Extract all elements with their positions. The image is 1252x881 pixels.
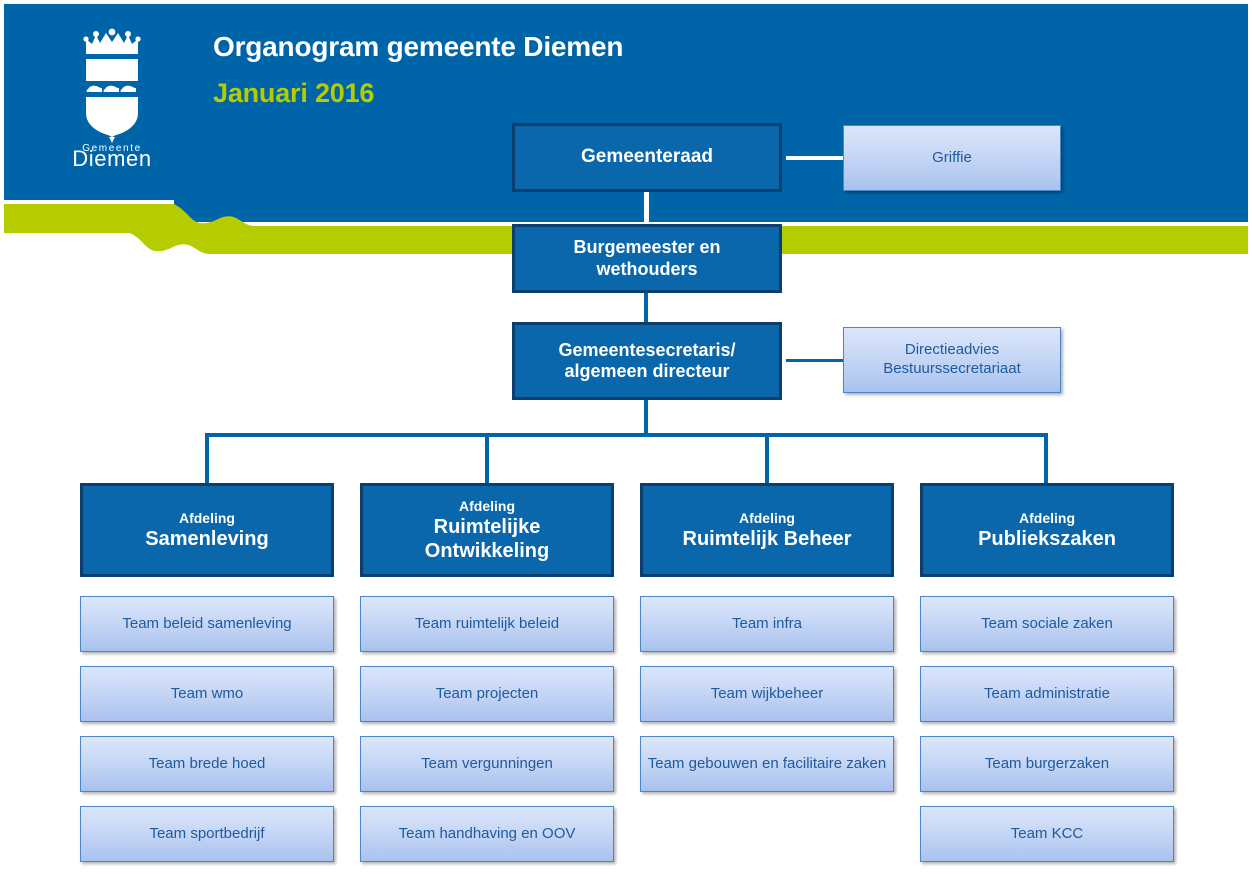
node-gemeentesecretaris-label: Gemeentesecretaris/ algemeen directeur [558,340,735,382]
dept-name: Ruimtelijke Ontwikkeling [425,515,549,564]
dept-header-samenleving[interactable]: Afdeling Samenleving [80,483,334,577]
logo-gemeente-diemen: Gemeente Diemen [66,27,158,167]
team-label: Team sportbedrijf [149,825,264,844]
page-title: Organogram gemeente Diemen [213,31,623,63]
dept-header-ruimtelijk-beheer-content: Afdeling Ruimtelijk Beheer [677,509,858,552]
team-label: Team beleid samenleving [122,615,291,634]
dept-kicker: Afdeling [978,509,1116,527]
connector-department-bus [207,433,1048,437]
dept-header-ruimtelijke-ontwikkeling[interactable]: Afdeling Ruimtelijke Ontwikkeling [360,483,614,577]
node-gemeenteraad-label: Gemeenteraad [581,146,713,168]
node-directieadvies-bestuurssecretariaat[interactable]: Directieadvies Bestuurssecretariaat [843,327,1061,393]
dept-header-samenleving-content: Afdeling Samenleving [139,509,274,552]
team-label: Team handhaving en OOV [399,825,576,844]
team-box[interactable]: Team infra [640,596,894,652]
dept-kicker: Afdeling [145,509,268,527]
team-box[interactable]: Team projecten [360,666,614,722]
node-griffie-label: Griffie [932,149,972,168]
team-box[interactable]: Team handhaving en OOV [360,806,614,862]
team-label: Team KCC [1011,825,1084,844]
node-griffie[interactable]: Griffie [843,125,1061,191]
team-box[interactable]: Team gebouwen en facilitaire zaken [640,736,894,792]
team-label: Team brede hoed [149,755,266,774]
dept-name: Samenleving [145,527,268,551]
dept-header-ruimtelijk-beheer[interactable]: Afdeling Ruimtelijk Beheer [640,483,894,577]
connector-bw-secretaris [644,292,648,322]
team-label: Team infra [732,615,802,634]
team-box[interactable]: Team sociale zaken [920,596,1174,652]
team-box[interactable]: Team brede hoed [80,736,334,792]
team-label: Team burgerzaken [985,755,1109,774]
logo-wordmark-large: Diemen [72,146,151,167]
team-label: Team wijkbeheer [711,685,824,704]
team-label: Team administratie [984,685,1110,704]
connector-secretaris-bus [644,400,648,436]
team-label: Team vergunningen [421,755,553,774]
connector-drop-publiekszaken [1044,433,1048,483]
dept-name: Ruimtelijk Beheer [683,527,852,551]
connector-drop-samenleving [205,433,209,483]
page-subtitle: Januari 2016 [213,78,374,109]
connector-raad-griffie [786,156,844,160]
team-box[interactable]: Team wmo [80,666,334,722]
team-label: Team gebouwen en facilitaire zaken [648,755,886,774]
connector-drop-ruimtelijk-beheer [765,433,769,483]
team-box[interactable]: Team beleid samenleving [80,596,334,652]
connector-secretaris-directieadvies [786,359,844,362]
dept-kicker: Afdeling [683,509,852,527]
connector-raad-bw [644,192,649,224]
node-burgemeester-en-wethouders[interactable]: Burgemeester en wethouders [512,224,782,293]
team-label: Team ruimtelijk beleid [415,615,559,634]
node-gemeenteraad[interactable]: Gemeenteraad [512,123,782,192]
team-box[interactable]: Team sportbedrijf [80,806,334,862]
team-label: Team sociale zaken [981,615,1113,634]
team-box[interactable]: Team KCC [920,806,1174,862]
dept-header-publiekszaken[interactable]: Afdeling Publiekszaken [920,483,1174,577]
team-box[interactable]: Team burgerzaken [920,736,1174,792]
node-gemeentesecretaris[interactable]: Gemeentesecretaris/ algemeen directeur [512,322,782,400]
node-burgemeester-en-wethouders-label: Burgemeester en wethouders [573,237,720,279]
team-label: Team wmo [171,685,244,704]
team-box[interactable]: Team wijkbeheer [640,666,894,722]
dept-header-publiekszaken-content: Afdeling Publiekszaken [972,509,1122,552]
team-box[interactable]: Team ruimtelijk beleid [360,596,614,652]
team-label: Team projecten [436,685,539,704]
dept-kicker: Afdeling [425,497,549,515]
dept-header-ruimtelijke-ontwikkeling-content: Afdeling Ruimtelijke Ontwikkeling [419,497,555,564]
team-box[interactable]: Team administratie [920,666,1174,722]
connector-drop-ruimtelijke-ontwikkeling [485,433,489,483]
team-box[interactable]: Team vergunningen [360,736,614,792]
node-directieadvies-label: Directieadvies Bestuurssecretariaat [883,341,1021,379]
dept-name: Publiekszaken [978,527,1116,551]
organogram-canvas: Gemeente Diemen Organogram gemeente Diem… [0,0,1252,881]
